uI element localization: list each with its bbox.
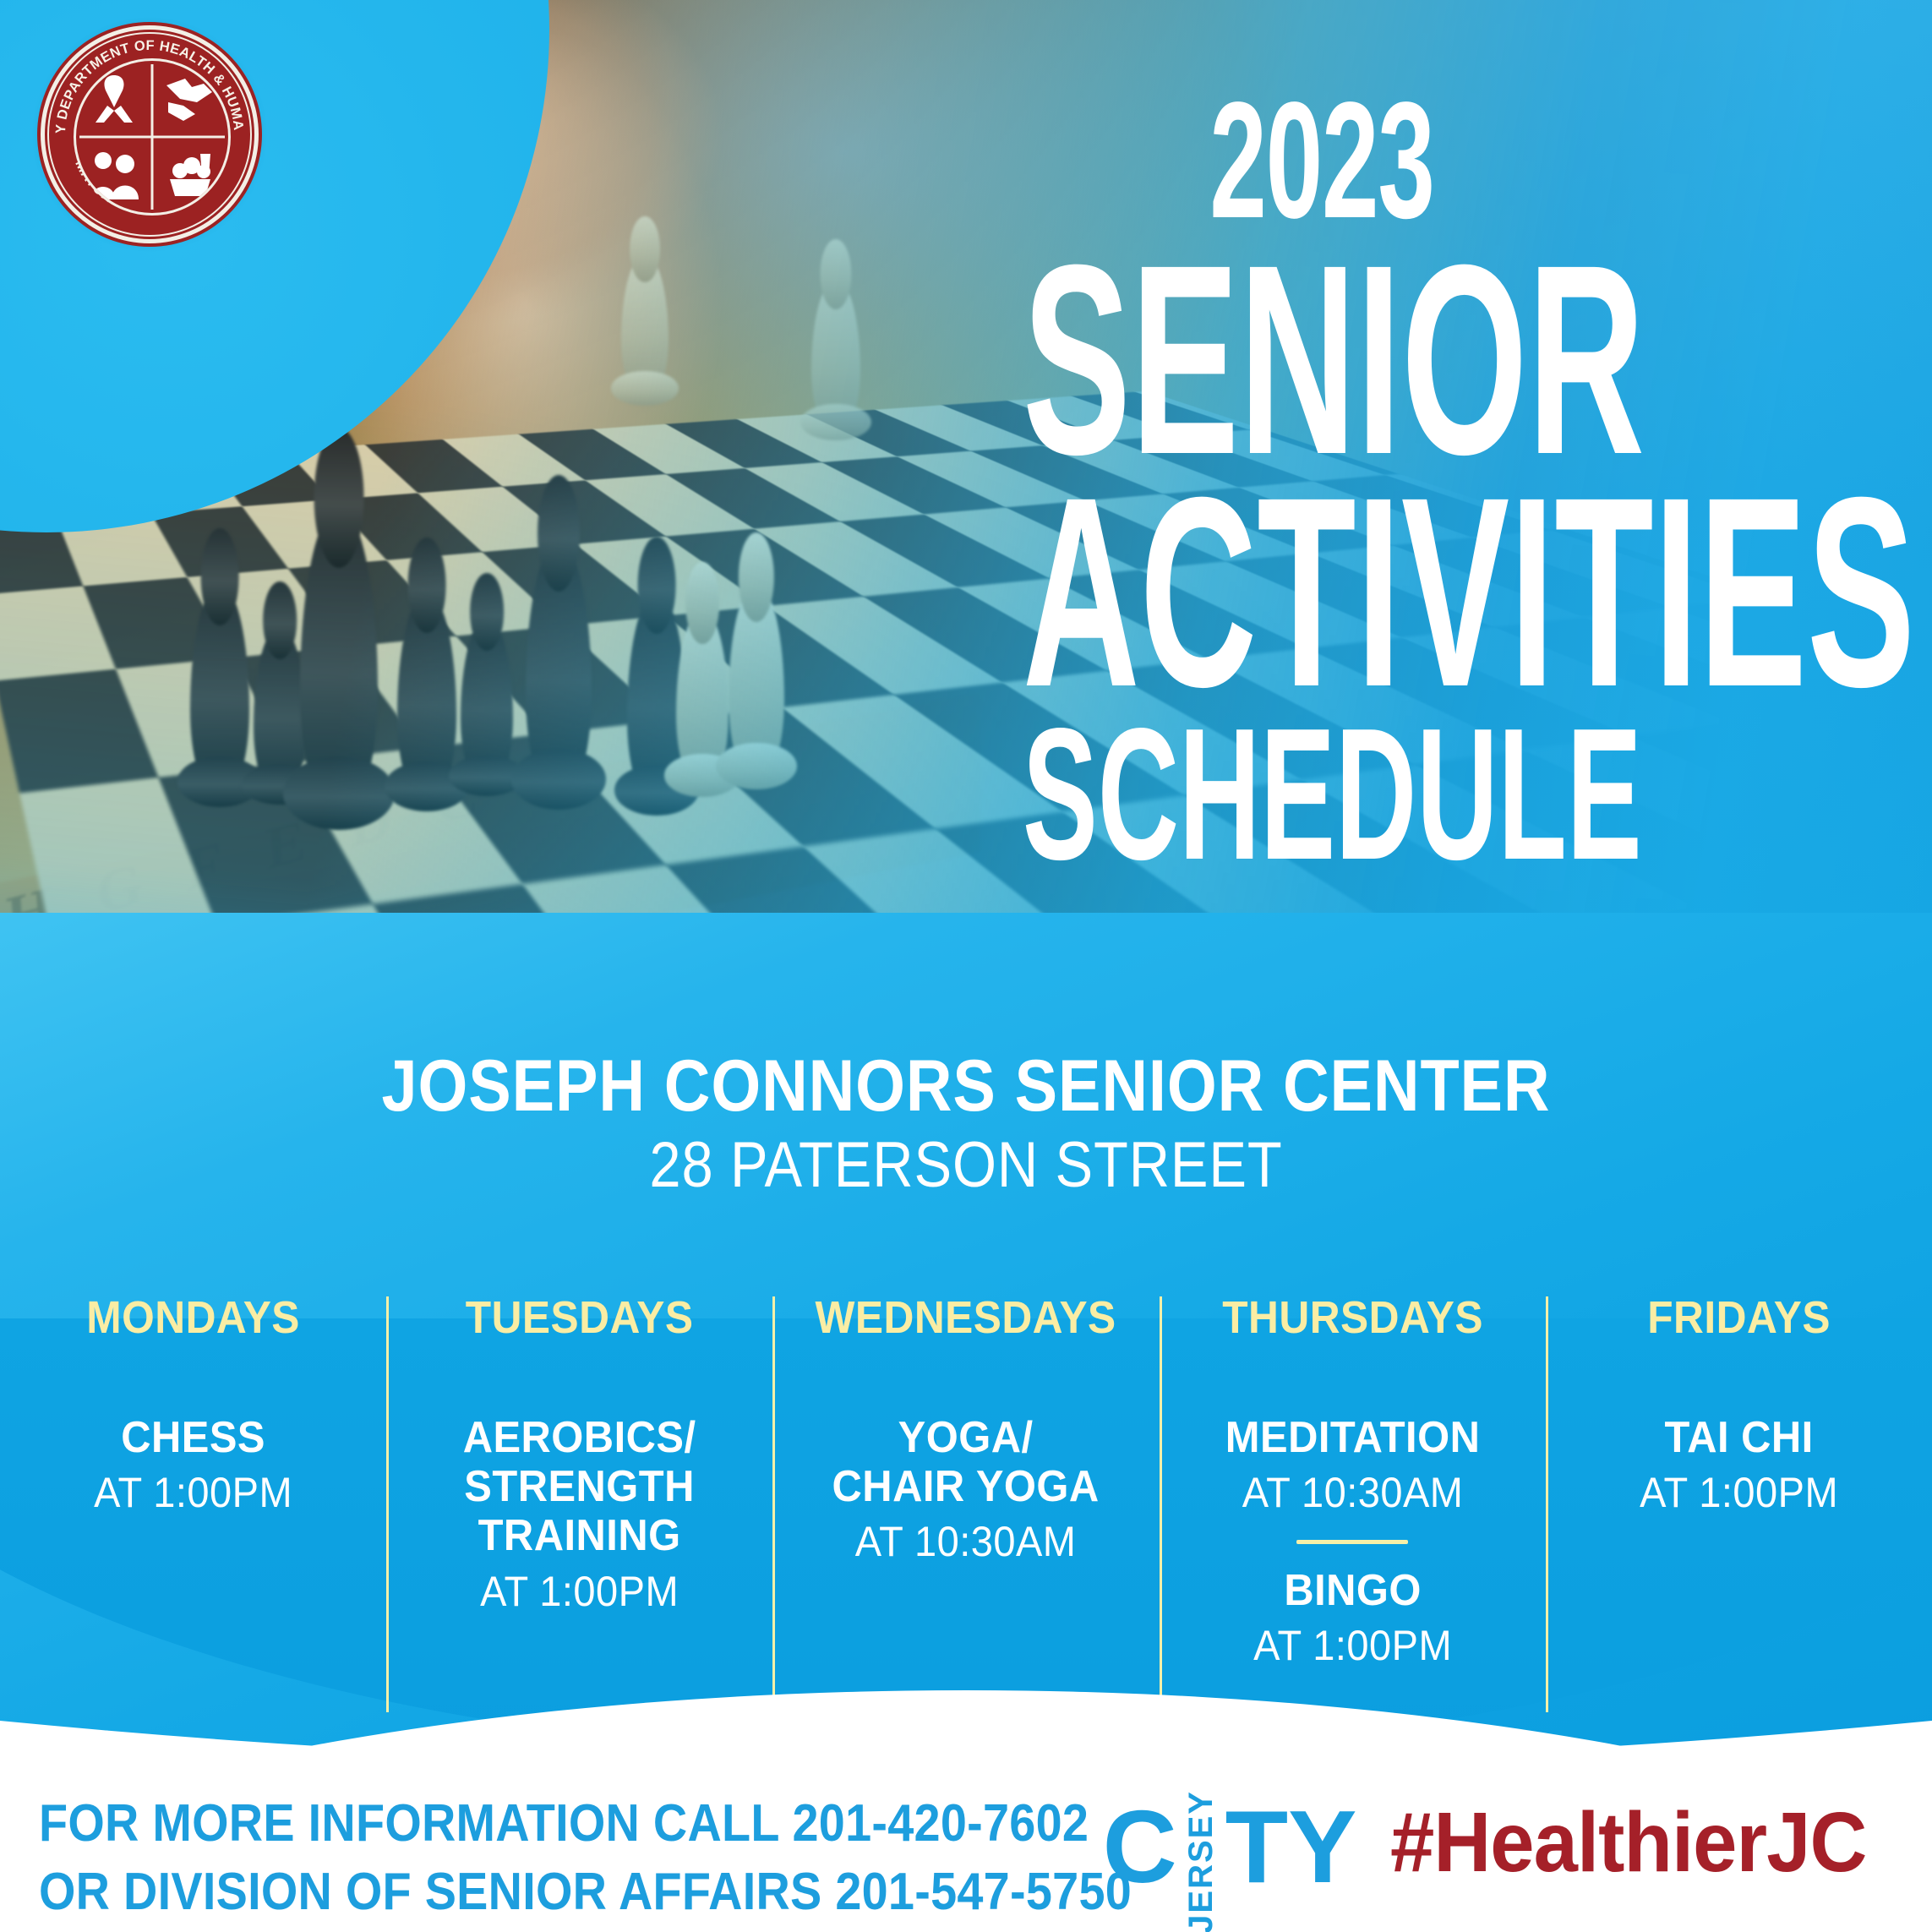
activity-list: AEROBICS/STRENGTHTRAINING AT 1:00PM bbox=[386, 1413, 772, 1617]
activity-name: CHESS bbox=[12, 1413, 375, 1462]
logo-word-jersey: JERSEY bbox=[1184, 1790, 1218, 1932]
schedule-column-friday: FRIDAYS TAI CHI AT 1:00PM bbox=[1546, 1285, 1932, 1724]
venue-name: JOSEPH CONNORS SENIOR CENTER bbox=[116, 1048, 1816, 1124]
venue-address: 28 PATERSON STREET bbox=[116, 1129, 1816, 1201]
seal-divider-horizontal bbox=[79, 136, 225, 139]
schedule-column-monday: MONDAYS CHESS AT 1:00PM bbox=[0, 1285, 386, 1724]
title-activities: ACTIVITIES bbox=[1023, 476, 1621, 708]
weekly-schedule: MONDAYS CHESS AT 1:00PM TUESDAYS AEROBIC… bbox=[0, 1285, 1932, 1724]
ribbon-icon bbox=[76, 61, 152, 137]
activity-list: MEDITATION AT 10:30AM BINGO AT 1:00PM bbox=[1160, 1413, 1546, 1671]
food-basket-icon bbox=[152, 137, 228, 213]
logo-letters-ty: TY bbox=[1225, 1795, 1357, 1898]
contact-info: FOR MORE INFORMATION CALL 201-420-7602 O… bbox=[39, 1790, 1132, 1926]
activity-name: TAI CHI bbox=[1558, 1413, 1921, 1462]
activity-item: BINGO AT 1:00PM bbox=[1160, 1566, 1546, 1671]
activity-name: MEDITATION bbox=[1171, 1413, 1534, 1462]
contact-line-2: OR DIVISION OF SENIOR AFFAIRS 201-547-57… bbox=[39, 1858, 1132, 1927]
day-label: MONDAYS bbox=[15, 1295, 371, 1340]
schedule-column-thursday: THURSDAYS MEDITATION AT 10:30AM BINGO AT… bbox=[1160, 1285, 1546, 1724]
schedule-column-tuesday: TUESDAYS AEROBICS/STRENGTHTRAINING AT 1:… bbox=[386, 1285, 772, 1724]
footer: FOR MORE INFORMATION CALL 201-420-7602 O… bbox=[0, 1783, 1932, 1932]
helping-hands-icon bbox=[152, 61, 228, 137]
jersey-city-logo: C JERSEY TY bbox=[1103, 1795, 1356, 1890]
activity-name: AEROBICS/STRENGTHTRAINING bbox=[398, 1413, 761, 1561]
poster-title: 2023 SENIOR ACTIVITIES SCHEDULE bbox=[823, 81, 1820, 879]
day-label: THURSDAYS bbox=[1175, 1295, 1531, 1340]
activity-item: TAI CHI AT 1:00PM bbox=[1546, 1413, 1932, 1518]
healthier-jc-hashtag: #HealthierJC bbox=[1390, 1800, 1866, 1885]
activity-name: YOGA/CHAIR YOGA bbox=[784, 1413, 1148, 1511]
logo-letter-c: C bbox=[1103, 1795, 1177, 1898]
activity-list: CHESS AT 1:00PM bbox=[0, 1413, 386, 1518]
activity-item: CHESS AT 1:00PM bbox=[0, 1413, 386, 1518]
day-label: FRIDAYS bbox=[1561, 1295, 1917, 1340]
activity-time: AT 1:00PM bbox=[12, 1467, 375, 1518]
activity-item: MEDITATION AT 10:30AM bbox=[1160, 1413, 1546, 1518]
activity-time: AT 10:30AM bbox=[1171, 1467, 1534, 1518]
jersey-city-seal: JERSEY CITY DEPARTMENT OF HEALTH & HUMAN… bbox=[45, 30, 254, 239]
activity-item: YOGA/CHAIR YOGA AT 10:30AM bbox=[772, 1413, 1159, 1567]
family-icon bbox=[76, 137, 152, 213]
contact-line-1: FOR MORE INFORMATION CALL 201-420-7602 bbox=[39, 1790, 1132, 1858]
footer-logos: C JERSEY TY #HealthierJC bbox=[1103, 1795, 1897, 1890]
activity-list: YOGA/CHAIR YOGA AT 10:30AM bbox=[772, 1413, 1159, 1567]
activity-item: AEROBICS/STRENGTHTRAINING AT 1:00PM bbox=[386, 1413, 772, 1617]
title-schedule: SCHEDULE bbox=[1023, 711, 1621, 880]
activity-time: AT 10:30AM bbox=[784, 1516, 1148, 1567]
activity-list: TAI CHI AT 1:00PM bbox=[1546, 1413, 1932, 1518]
schedule-column-wednesday: WEDNESDAYS YOGA/CHAIR YOGA AT 10:30AM bbox=[772, 1285, 1159, 1724]
activity-time: AT 1:00PM bbox=[1171, 1620, 1534, 1671]
day-label: TUESDAYS bbox=[401, 1295, 757, 1340]
seal-inner-emblem bbox=[74, 58, 231, 216]
venue-block: JOSEPH CONNORS SENIOR CENTER 28 PATERSON… bbox=[0, 1048, 1932, 1201]
poster: HGFEDC JERSEY CITY DEPARTMENT OF HEALTH … bbox=[0, 0, 1932, 1932]
activity-time: AT 1:00PM bbox=[398, 1566, 761, 1617]
activity-name: BINGO bbox=[1171, 1566, 1534, 1615]
activity-separator bbox=[1296, 1540, 1408, 1544]
activity-time: AT 1:00PM bbox=[1558, 1467, 1921, 1518]
day-label: WEDNESDAYS bbox=[789, 1295, 1144, 1340]
